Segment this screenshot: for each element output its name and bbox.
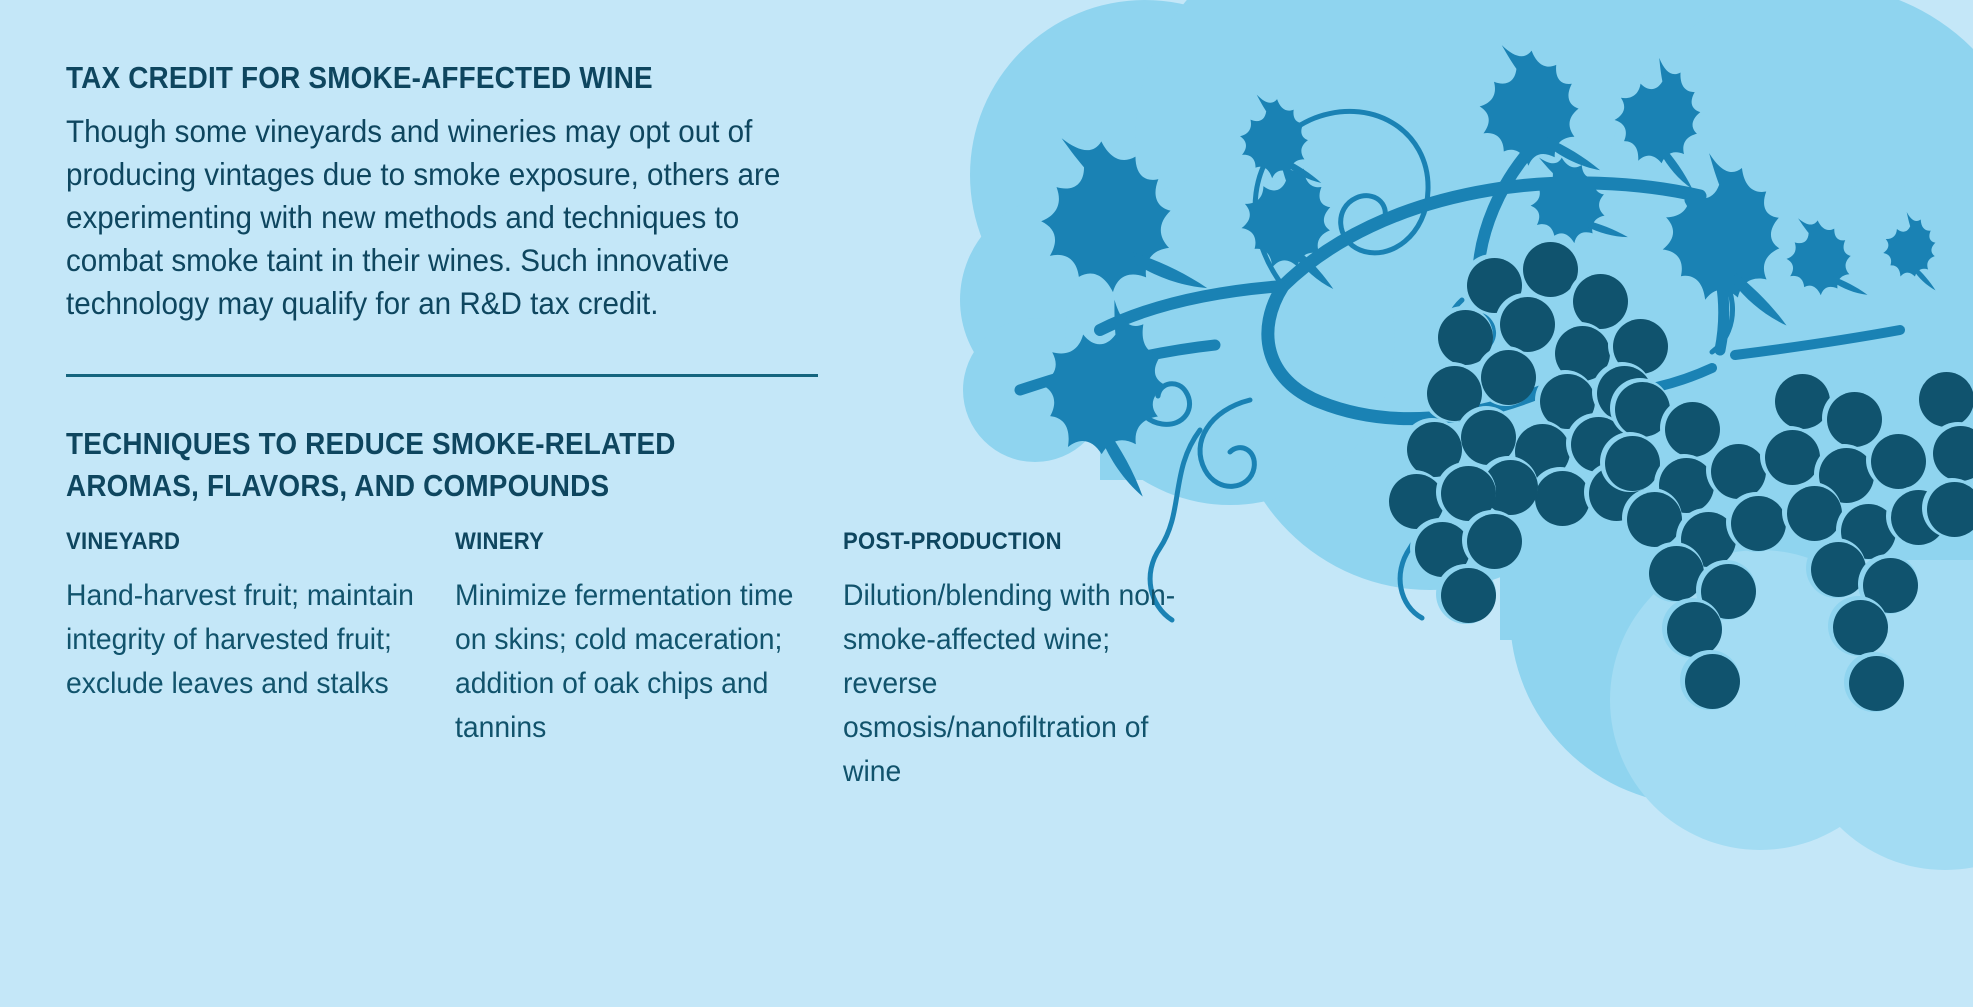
column-winery: WINERY Minimize fermentation time on ski… [455,528,835,750]
column-post-production-body: Dilution/blending with non-smoke-affecte… [843,574,1208,794]
techniques-heading: TECHNIQUES TO REDUCE SMOKE-RELATED AROMA… [66,423,804,507]
column-winery-label: WINERY [455,528,805,556]
column-winery-body: Minimize fermentation time on skins; col… [455,574,820,750]
intro-paragraph: Though some vineyards and wineries may o… [66,110,809,325]
column-post-production-label: POST-PRODUCTION [843,528,1193,556]
column-vineyard-body: Hand-harvest fruit; maintain integrity o… [66,574,431,706]
column-vineyard: VINEYARD Hand-harvest fruit; maintain in… [66,528,446,706]
page-title: TAX CREDIT FOR SMOKE-AFFECTED WINE [66,60,653,96]
column-vineyard-label: VINEYARD [66,528,416,556]
infographic-panel: TAX CREDIT FOR SMOKE-AFFECTED WINE Thoug… [0,0,1973,1007]
column-post-production: POST-PRODUCTION Dilution/blending with n… [843,528,1223,794]
section-divider [66,374,818,377]
